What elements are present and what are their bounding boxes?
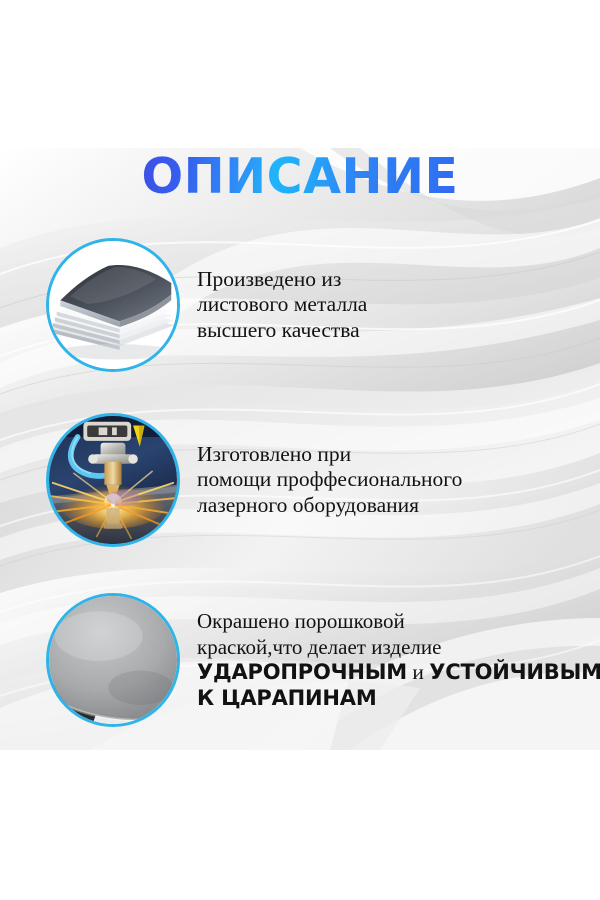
feature-line: Окрашено порошковой xyxy=(197,609,600,635)
feature-emphasis-word: УДАРОПРОЧНЫМ xyxy=(197,660,407,684)
feature-conjunction: и xyxy=(407,660,429,684)
feature-row-material: Произведено из листового металла высшего… xyxy=(46,238,586,372)
description-infographic: ОПИСАНИЕ xyxy=(0,0,600,900)
feature-line-emphasis: К ЦАРАПИНАМ xyxy=(197,686,600,712)
laser-cutting-machine-icon xyxy=(46,413,180,547)
feature-line: лазерного оборудования xyxy=(197,493,586,519)
page-title: ОПИСАНИЕ xyxy=(141,152,458,201)
feature-line: Изготовлено при xyxy=(197,442,586,468)
feature-line-emphasis: УДАРОПРОЧНЫМ и УСТОЙЧИВЫМ xyxy=(197,660,600,686)
feature-line: краской,что делает изделие xyxy=(197,635,600,661)
sheet-metal-stack-icon xyxy=(46,238,180,372)
feature-line: Произведено из xyxy=(197,267,586,293)
feature-copy-coating: Окрашено порошковой краской,что делает и… xyxy=(197,609,600,711)
page-title-container: ОПИСАНИЕ xyxy=(0,152,600,201)
feature-row-laser: Изготовлено при помощи проффесионального… xyxy=(46,413,586,547)
feature-line: помощи проффесионального xyxy=(197,467,586,493)
powder-coated-texture-icon xyxy=(46,593,180,727)
feature-row-coating: Окрашено порошковой краской,что делает и… xyxy=(46,593,586,727)
feature-copy-laser: Изготовлено при помощи проффесионального… xyxy=(197,442,586,519)
feature-line: высшего качества xyxy=(197,318,586,344)
feature-copy-material: Произведено из листового металла высшего… xyxy=(197,267,586,344)
feature-emphasis-word: УСТОЙЧИВЫМ xyxy=(429,660,600,684)
feature-line: листового металла xyxy=(197,292,586,318)
